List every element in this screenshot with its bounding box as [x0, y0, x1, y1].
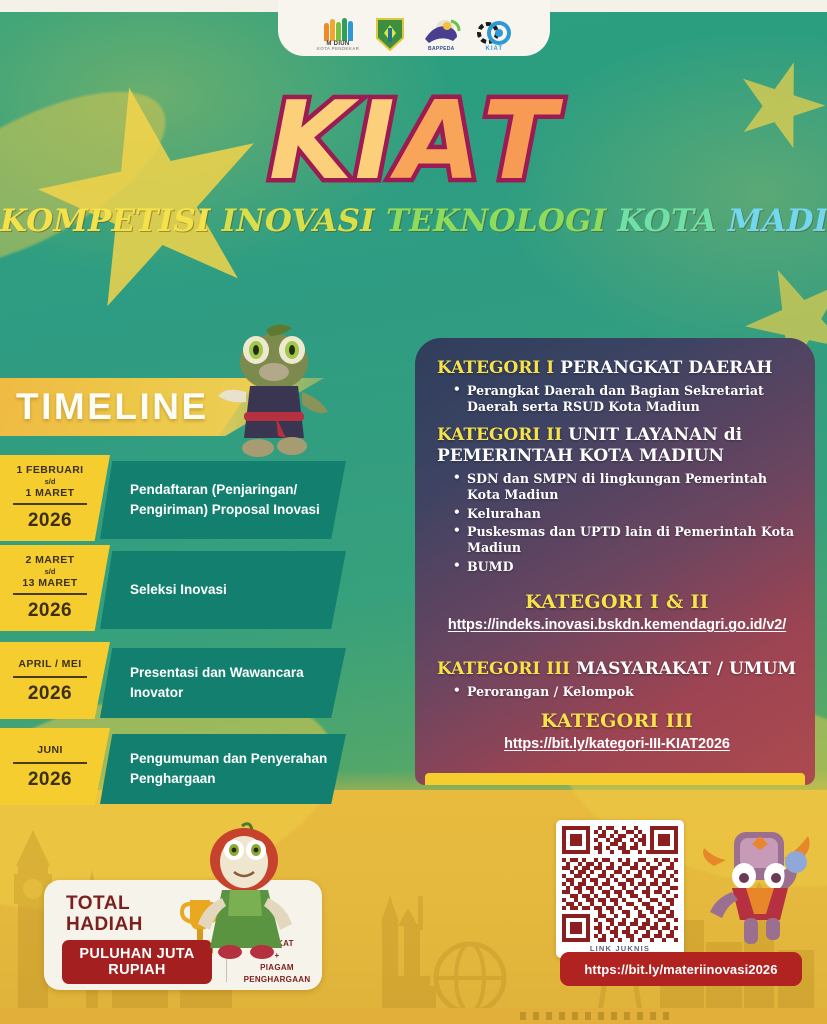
list-item: Kelurahan	[453, 506, 797, 522]
title-letter-k: K	[269, 88, 355, 196]
timeline-rule	[13, 503, 87, 505]
subtitle-word-teknologi: TEKNOLOGI	[386, 203, 607, 239]
juknis-link-bar[interactable]: https://bit.ly/materiinovasi2026	[560, 952, 802, 986]
timeline-description: Pengumuman dan Penyerahan Penghargaan	[100, 734, 346, 804]
kategori-3-list: Perorangan / Kelompok	[453, 684, 797, 700]
timeline-description: Presentasi dan Wawancara Inovator	[100, 648, 346, 718]
timeline-date-block: JUNI 2026	[0, 728, 110, 805]
panel-spacer	[437, 637, 797, 659]
kategori-1-heading: KATEGORI I PERANGKAT DAERAH	[437, 358, 797, 379]
poster-title: KIAT	[0, 88, 827, 196]
timeline-date-start: JUNI	[0, 744, 100, 756]
subtitle-word-kota: KOTA	[618, 203, 717, 239]
prize-extra-line3: PENGHARGAAN	[236, 974, 318, 986]
footer-dots	[520, 1012, 669, 1020]
timeline-description: Pendaftaran (Penjaringan/ Pengiriman) Pr…	[100, 461, 346, 539]
seal-shield-icon	[375, 16, 405, 52]
kategori-3-heading: KATEGORI III MASYARAKAT / UMUM	[437, 659, 797, 680]
list-item: SDN dan SMPN di lingkungan Pemerintah Ko…	[453, 471, 797, 504]
prize-amount-line2: RUPIAH	[108, 962, 165, 978]
subtitle-word-madiun: MADIUN	[728, 203, 827, 239]
madiun-logo-subcaption: KOTA PENDEKAR	[317, 47, 360, 52]
prize-label-line1: TOTAL	[66, 894, 143, 915]
subtitle-word-kompetisi: KOMPETISI	[0, 203, 211, 239]
madiun-bars-icon	[324, 19, 353, 41]
title-letter-i: I	[355, 88, 397, 196]
kategori-1-title: PERANGKAT DAERAH	[560, 358, 772, 378]
bappeda-logo-caption: BAPPEDA	[428, 47, 455, 52]
girl-mascot	[186, 820, 306, 960]
kategori-2-label: KATEGORI II	[437, 425, 562, 445]
timeline-date-start: APRIL / MEI	[0, 658, 100, 670]
prize-extra-line2: PIAGAM	[236, 962, 318, 974]
timeline-description: Seleksi Inovasi	[100, 551, 346, 629]
timeline-year: 2026	[0, 510, 100, 532]
bappeda-emblem-icon	[421, 17, 461, 47]
timeline-date-start: 2 MARET	[0, 554, 100, 566]
prize-label: TOTAL HADIAH	[66, 894, 143, 935]
cta-3-title: KATEGORI III	[437, 710, 797, 732]
robot-mascot	[700, 818, 820, 950]
timeline-year: 2026	[0, 683, 100, 705]
kategori-3-title: MASYARAKAT / UMUM	[576, 659, 796, 679]
footer-strip	[0, 1008, 827, 1024]
title-letter-a: A	[397, 88, 483, 196]
kategori-1-label: KATEGORI I	[437, 358, 554, 378]
juknis-qr-card[interactable]: LINK JUKNIS	[556, 820, 684, 958]
timeline-date-block: 1 FEBRUARI s/d 1 MARET 2026	[0, 455, 110, 541]
madiun-city-logo: M DIUN KOTA PENDEKAR	[317, 10, 360, 52]
bappeda-logo: BAPPEDA	[421, 10, 461, 52]
category-panel: KATEGORI I PERANGKAT DAERAH Perangkat Da…	[415, 338, 815, 785]
timeline-rule	[13, 762, 87, 764]
kategori-1-2-cta: KATEGORI I & II https://indeks.inovasi.b…	[437, 591, 797, 633]
timeline-date-start: 1 FEBRUARI	[0, 464, 100, 476]
timeline-year: 2026	[0, 769, 100, 791]
qr-code-icon[interactable]	[562, 826, 678, 942]
kategori-2-heading: KATEGORI II UNIT LAYANAN di PEMERINTAH K…	[437, 425, 797, 466]
kiat-logo-caption: KIAT	[486, 46, 504, 52]
kategori-3-label: KATEGORI III	[437, 659, 570, 679]
kategori-1-list: Perangkat Daerah dan Bagian Sekretariat …	[453, 383, 797, 416]
list-item: BUMD	[453, 559, 797, 575]
kiat-gear-icon	[477, 20, 511, 46]
cta-3-link[interactable]: https://bit.ly/kategori-III-KIAT2026	[437, 736, 797, 752]
cta-1-link[interactable]: https://indeks.inovasi.bskdn.kemendagri.…	[437, 617, 797, 633]
timeline-date-block: APRIL / MEI 2026	[0, 642, 110, 719]
poster-root: M DIUN KOTA PENDEKAR BAPPEDA	[0, 0, 827, 1024]
kiat-logo: KIAT	[477, 10, 511, 52]
timeline-heading: TIMELINE	[16, 386, 209, 428]
logo-strip: M DIUN KOTA PENDEKAR BAPPEDA	[278, 0, 550, 56]
timeline-date-block: 2 MARET s/d 13 MARET 2026	[0, 545, 110, 631]
cta-1-title: KATEGORI I & II	[437, 591, 797, 613]
kategori-2-list: SDN dan SMPN di lingkungan Pemerintah Ko…	[453, 471, 797, 575]
juknis-link-text: https://bit.ly/materiinovasi2026	[584, 962, 777, 977]
timeline-date-end: 13 MARET	[0, 577, 100, 593]
list-item: Puskesmas dan UPTD lain di Pemerintah Ko…	[453, 524, 797, 557]
timeline-year: 2026	[0, 600, 100, 622]
prize-label-line2: HADIAH	[66, 915, 143, 936]
timeline-date-separator: s/d	[0, 477, 100, 486]
subtitle-word-inovasi: INOVASI	[222, 203, 375, 239]
kota-madiun-seal-logo	[375, 10, 405, 52]
frog-mascot	[216, 320, 332, 470]
timeline-rule	[13, 593, 87, 595]
list-item: Perorangan / Kelompok	[453, 684, 797, 700]
prize-amount-line1: PULUHAN JUTA	[79, 946, 194, 962]
list-item: Perangkat Daerah dan Bagian Sekretariat …	[453, 383, 797, 416]
timeline-rule	[13, 676, 87, 678]
timeline-date-end: 1 MARET	[0, 487, 100, 503]
poster-subtitle: KOMPETISI INOVASI TEKNOLOGI KOTA MADIUN	[0, 203, 827, 239]
title-letter-t: T	[482, 88, 558, 196]
timeline-date-separator: s/d	[0, 567, 100, 576]
kategori-3-cta: KATEGORI III https://bit.ly/kategori-III…	[437, 710, 797, 752]
